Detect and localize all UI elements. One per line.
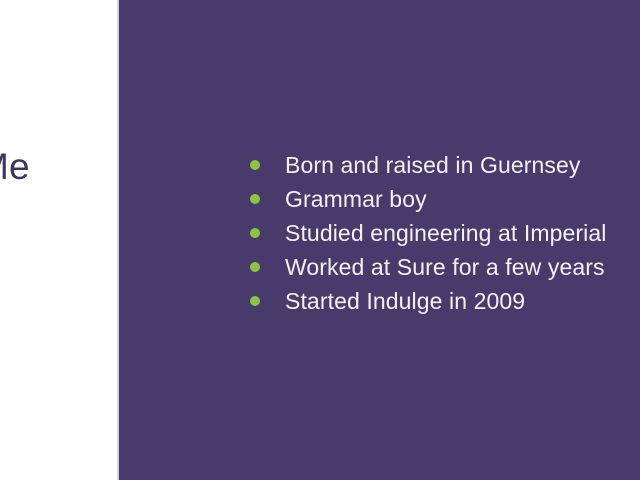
list-item: Started Indulge in 2009 <box>250 284 606 318</box>
list-item-label: Started Indulge in 2009 <box>285 284 525 318</box>
list-item-label: Worked at Sure for a few years <box>285 250 605 284</box>
bullet-list: Born and raised in Guernsey Grammar boy … <box>250 148 606 318</box>
list-item: Born and raised in Guernsey <box>250 148 606 182</box>
bullet-dot-icon <box>250 228 260 238</box>
presentation-slide: Me Born and raised in Guernsey Grammar b… <box>0 0 640 480</box>
list-item-label: Grammar boy <box>285 182 427 216</box>
bullet-dot-icon <box>250 262 260 272</box>
bullet-dot-icon <box>250 194 260 204</box>
bullet-dot-icon <box>250 160 260 170</box>
list-item: Grammar boy <box>250 182 606 216</box>
list-item: Studied engineering at Imperial <box>250 216 606 250</box>
page-title: Me <box>0 144 30 190</box>
list-item-label: Born and raised in Guernsey <box>285 148 580 182</box>
bullet-dot-icon <box>250 296 260 306</box>
title-panel: Me <box>0 0 117 480</box>
list-item-label: Studied engineering at Imperial <box>285 216 606 250</box>
content-panel: Born and raised in Guernsey Grammar boy … <box>119 0 640 480</box>
list-item: Worked at Sure for a few years <box>250 250 606 284</box>
